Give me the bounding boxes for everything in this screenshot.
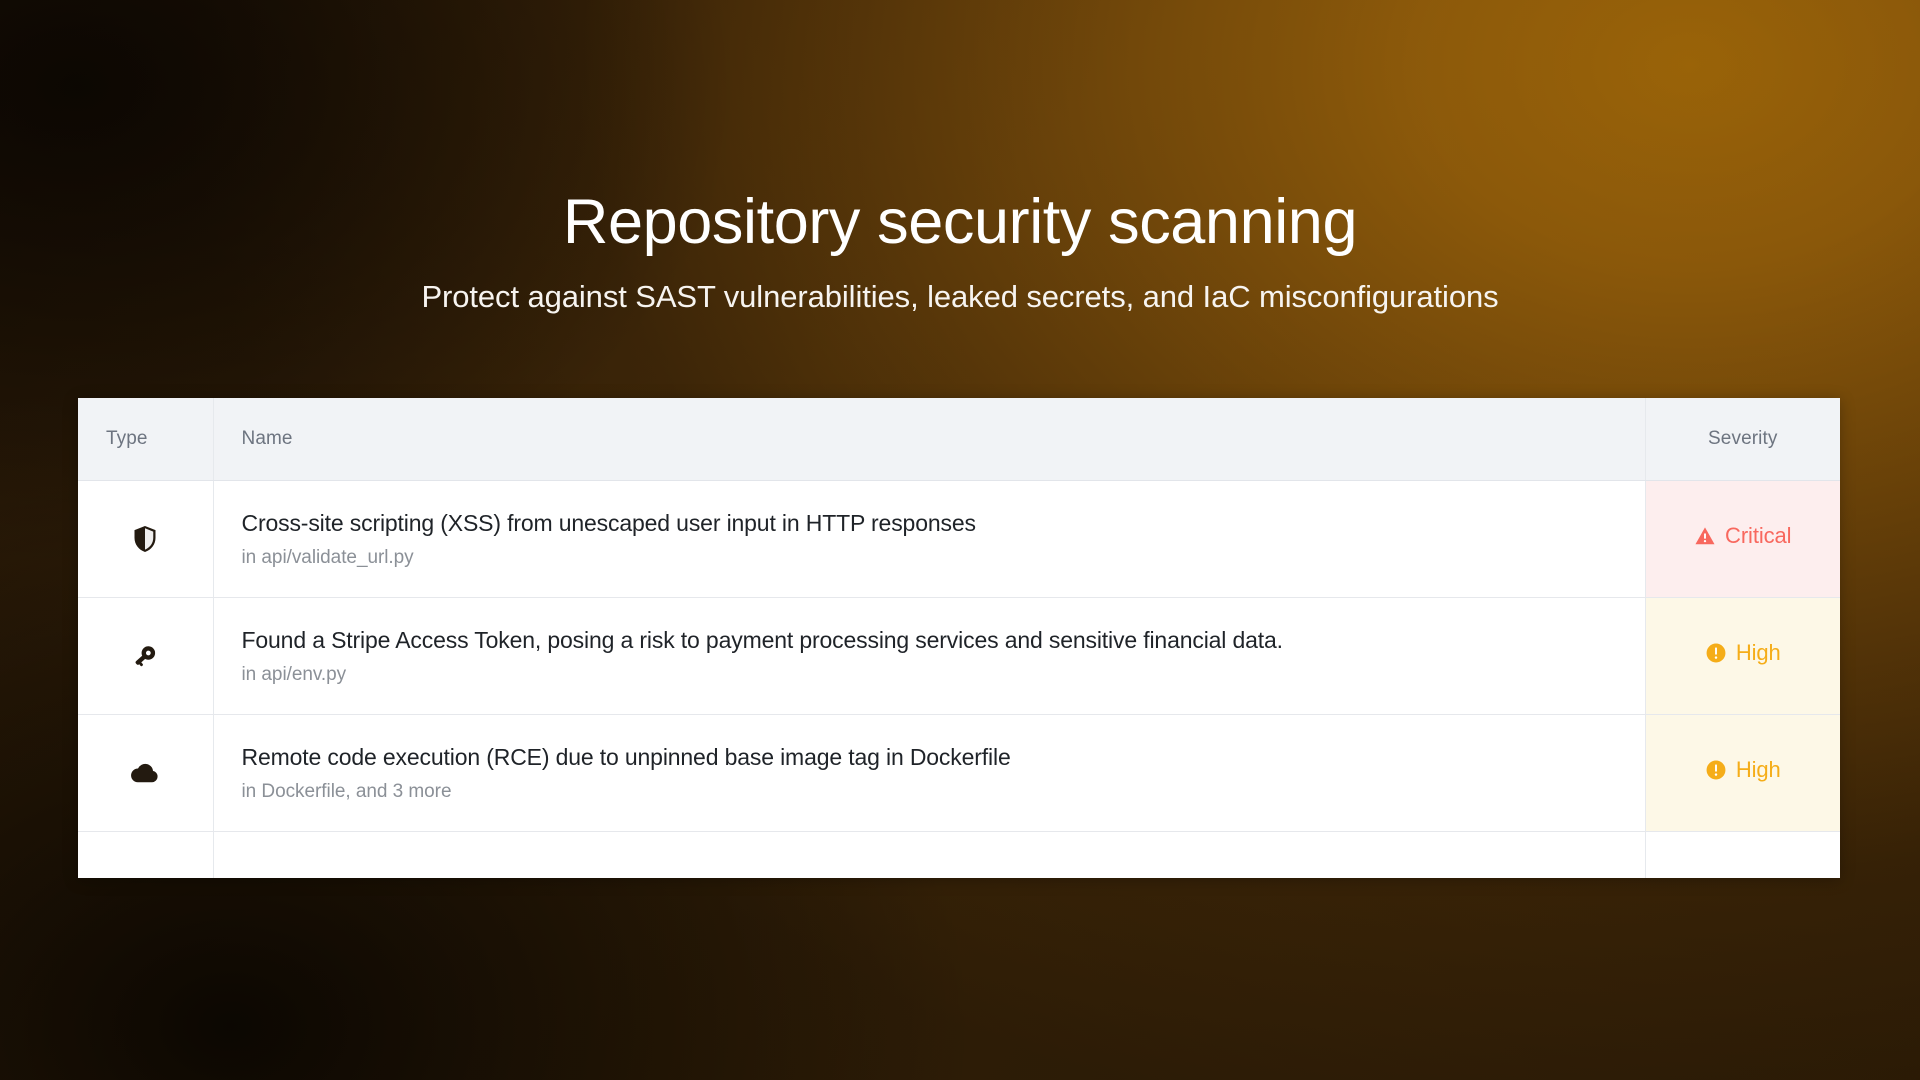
finding-location[interactable]: in api/env.py [242, 663, 1617, 687]
cell-name [213, 831, 1645, 878]
cell-type [78, 597, 213, 714]
status-badge: High [1705, 759, 1781, 781]
page-subtitle: Protect against SAST vulnerabilities, le… [0, 278, 1920, 316]
severity-label: High [1736, 642, 1781, 664]
finding-location[interactable]: in Dockerfile, and 3 more [242, 780, 1617, 804]
shield-icon [130, 524, 160, 554]
cell-name: Found a Stripe Access Token, posing a ri… [213, 597, 1645, 714]
column-header-name[interactable]: Name [213, 398, 1645, 480]
cell-type [78, 714, 213, 831]
severity-label: High [1736, 759, 1781, 781]
cell-type [78, 480, 213, 597]
cell-severity: High [1645, 714, 1840, 831]
finding-location[interactable]: in api/validate_url.py [242, 546, 1617, 570]
status-badge: High [1705, 642, 1781, 664]
finding-title[interactable]: Found a Stripe Access Token, posing a ri… [242, 625, 1617, 655]
page-title: Repository security scanning [0, 186, 1920, 258]
cell-severity: High [1645, 597, 1840, 714]
security-findings-table: Type Name Severity Cross-site scripting … [78, 398, 1840, 878]
column-header-severity[interactable]: Severity [1645, 398, 1840, 480]
cell-severity [1645, 831, 1840, 878]
table-header: Type Name Severity [78, 398, 1840, 480]
column-header-type[interactable]: Type [78, 398, 213, 480]
table-row[interactable]: Cross-site scripting (XSS) from unescape… [78, 480, 1840, 597]
table-row-partial[interactable] [78, 831, 1840, 878]
cell-type [78, 831, 213, 878]
cloud-icon [130, 758, 160, 788]
table-row[interactable]: Found a Stripe Access Token, posing a ri… [78, 597, 1840, 714]
warning-triangle-icon [1694, 525, 1716, 547]
table-body: Cross-site scripting (XSS) from unescape… [78, 480, 1840, 878]
exclamation-circle-icon [1705, 759, 1727, 781]
status-badge: Critical [1694, 525, 1791, 547]
severity-label: Critical [1725, 525, 1791, 547]
table-row[interactable]: Remote code execution (RCE) due to unpin… [78, 714, 1840, 831]
key-icon [130, 641, 160, 671]
cell-name: Cross-site scripting (XSS) from unescape… [213, 480, 1645, 597]
exclamation-circle-icon [1705, 642, 1727, 664]
table-header-row: Type Name Severity [78, 398, 1840, 480]
finding-title[interactable]: Cross-site scripting (XSS) from unescape… [242, 508, 1617, 538]
hero-section: Repository security scanning Protect aga… [0, 186, 1920, 316]
finding-title[interactable]: Remote code execution (RCE) due to unpin… [242, 742, 1617, 772]
security-findings-table-card: Type Name Severity Cross-site scripting … [78, 398, 1840, 878]
cell-severity: Critical [1645, 480, 1840, 597]
cell-name: Remote code execution (RCE) due to unpin… [213, 714, 1645, 831]
